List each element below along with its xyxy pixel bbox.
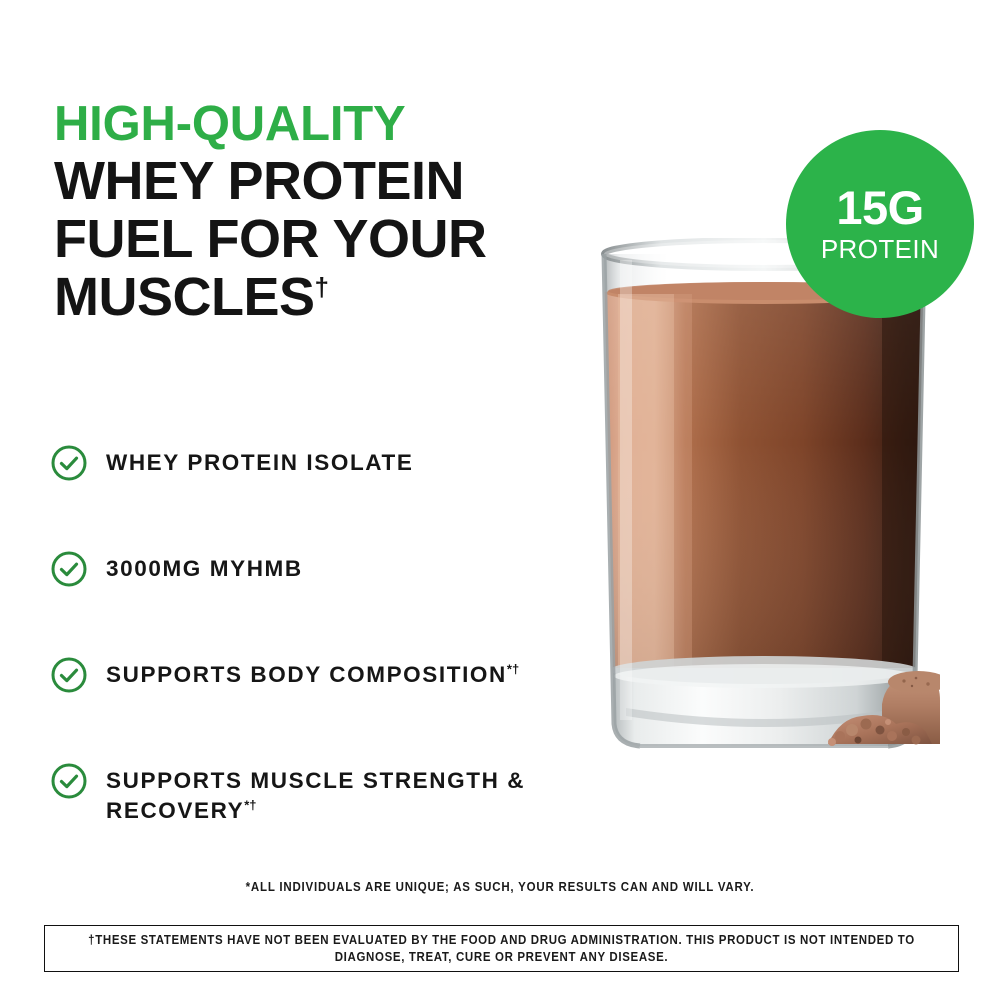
protein-badge-label: PROTEIN <box>821 235 939 263</box>
benefit-item: 3000MG MYHMB <box>50 549 630 593</box>
benefit-item: SUPPORTS MUSCLE STRENGTH & RECOVERY*† <box>50 761 630 826</box>
check-circle-icon <box>50 550 88 588</box>
disclaimer-results-vary: *ALL INDIVIDUALS ARE UNIQUE; AS SUCH, YO… <box>40 880 960 894</box>
benefit-marker: *† <box>507 662 519 677</box>
benefit-item: SUPPORTS BODY COMPOSITION*† <box>50 655 630 699</box>
check-circle-icon <box>50 762 88 800</box>
benefit-marker: *† <box>244 798 256 813</box>
benefit-text: SUPPORTS MUSCLE STRENGTH & RECOVERY <box>106 768 525 823</box>
product-marketing-image: HIGH-QUALITY WHEY PROTEIN FUEL FOR YOUR … <box>0 0 1000 1000</box>
headline-dagger-marker: † <box>315 272 329 302</box>
check-circle-icon <box>50 656 88 694</box>
benefit-label: WHEY PROTEIN ISOLATE <box>106 443 413 478</box>
benefit-text: SUPPORTS BODY COMPOSITION <box>106 662 507 687</box>
benefit-text: 3000MG MYHMB <box>106 556 303 581</box>
benefit-text: WHEY PROTEIN ISOLATE <box>106 450 413 475</box>
headline-line-4-text: MUSCLES <box>54 267 315 327</box>
protein-badge: 15G PROTEIN <box>786 130 974 318</box>
benefit-label: SUPPORTS MUSCLE STRENGTH & RECOVERY*† <box>106 761 576 826</box>
protein-badge-value: 15G <box>836 185 923 231</box>
check-circle-icon <box>50 444 88 482</box>
headline-block: HIGH-QUALITY WHEY PROTEIN FUEL FOR YOUR … <box>54 96 614 326</box>
headline-line-2: WHEY PROTEIN <box>54 152 614 210</box>
headline-line-4: MUSCLES† <box>54 268 614 326</box>
benefit-label: SUPPORTS BODY COMPOSITION*† <box>106 655 519 690</box>
headline-line-3: FUEL FOR YOUR <box>54 210 614 268</box>
benefit-item: WHEY PROTEIN ISOLATE <box>50 443 630 487</box>
benefit-list: WHEY PROTEIN ISOLATE 3000MG MYHMB SUPPOR… <box>50 443 630 826</box>
benefit-label: 3000MG MYHMB <box>106 549 303 584</box>
fda-disclaimer-box: †THESE STATEMENTS HAVE NOT BEEN EVALUATE… <box>44 925 959 972</box>
fda-disclaimer-text: †THESE STATEMENTS HAVE NOT BEEN EVALUATE… <box>82 932 922 966</box>
headline-line-1: HIGH-QUALITY <box>54 96 614 152</box>
product-photo-glass <box>596 238 940 778</box>
